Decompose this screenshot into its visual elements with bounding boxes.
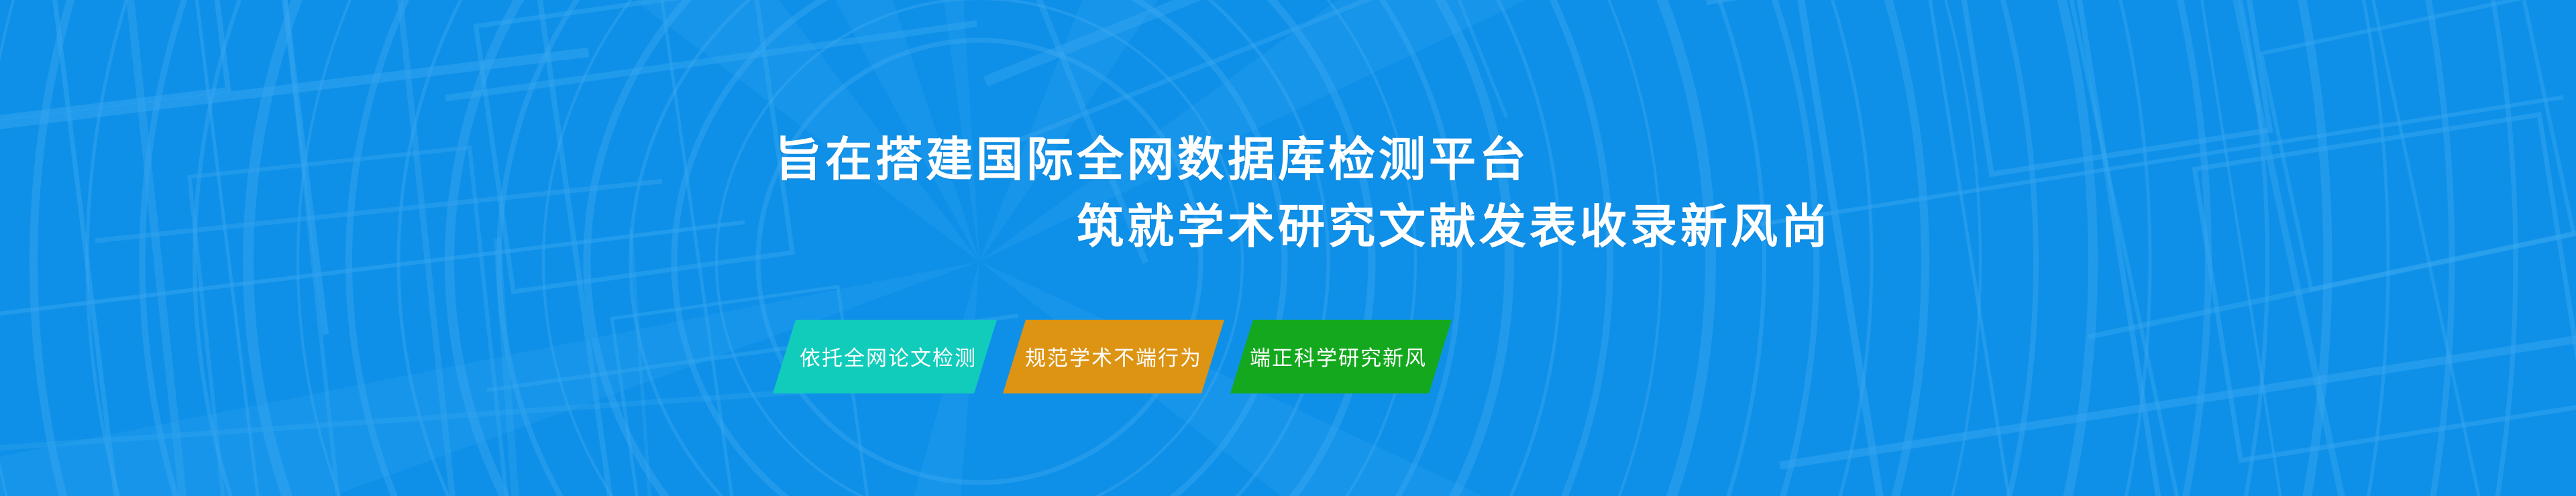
feature-badge-strip: 依托全网论文检测 规范学术不端行为 端正科学研究新风: [773, 320, 1452, 393]
headline-block: 旨在搭建国际全网数据库检测平台 筑就学术研究文献发表收录新风尚: [0, 126, 2576, 260]
feature-badge-research-integrity[interactable]: 端正科学研究新风: [1230, 320, 1452, 393]
headline-line-1: 旨在搭建国际全网数据库检测平台: [775, 126, 2576, 193]
feature-badge-label: 端正科学研究新风: [1250, 341, 1427, 371]
feature-badge-label: 规范学术不端行为: [1025, 341, 1202, 371]
headline-line-2: 筑就学术研究文献发表收录新风尚: [1077, 193, 2576, 260]
feature-badge-paper-detection[interactable]: 依托全网论文检测: [773, 320, 997, 393]
promo-banner: 旨在搭建国际全网数据库检测平台 筑就学术研究文献发表收录新风尚 依托全网论文检测…: [0, 0, 2576, 496]
feature-badge-label: 依托全网论文检测: [800, 341, 977, 371]
feature-badge-misconduct-regulation[interactable]: 规范学术不端行为: [1003, 320, 1224, 393]
